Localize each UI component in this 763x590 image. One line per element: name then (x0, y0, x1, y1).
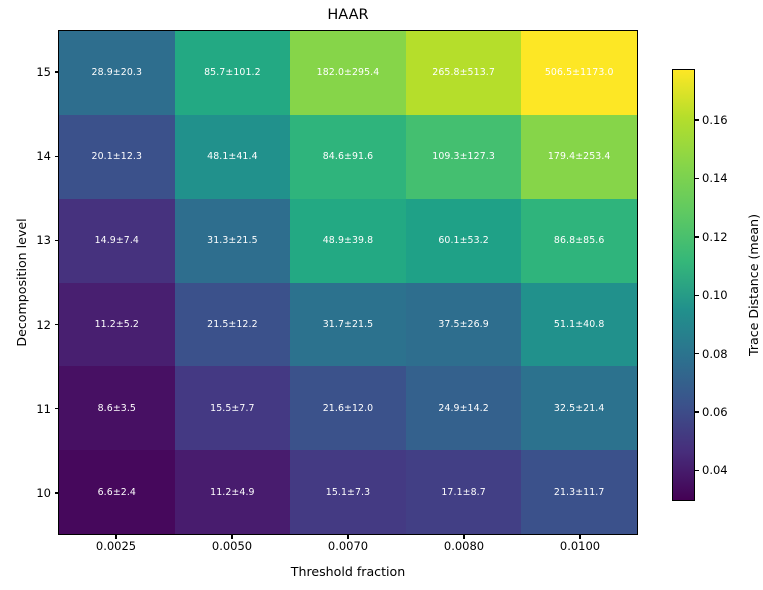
heatmap-cell: 506.5±1173.0 (521, 31, 637, 115)
heatmap-cell-label: 506.5±1173.0 (545, 67, 614, 78)
y-tick-label: 14 (0, 149, 56, 163)
heatmap-cell: 20.1±12.3 (59, 115, 175, 199)
heatmap-cell: 86.8±85.6 (521, 199, 637, 283)
heatmap-cell-label: 179.4±253.4 (548, 151, 611, 162)
heatmap-cell: 109.3±127.3 (406, 115, 522, 199)
x-tick-label: 0.0100 (560, 539, 600, 553)
colorbar-label: Trace Distance (mean) (746, 69, 762, 501)
heatmap-cell-label: 11.2±4.9 (210, 487, 254, 498)
heatmap-cell-label: 31.3±21.5 (207, 235, 258, 246)
colorbar-tick-label: 0.14 (702, 171, 728, 185)
heatmap-cell-label: 37.5±26.9 (438, 319, 489, 330)
colorbar-tick-label: 0.08 (702, 347, 728, 361)
colorbar-tick-mark (695, 119, 699, 120)
page-title: HAAR (58, 6, 638, 24)
heatmap-cell-label: 48.9±39.8 (323, 235, 374, 246)
heatmap-cell: 15.5±7.7 (175, 366, 291, 450)
x-tick-label: 0.0050 (212, 539, 252, 553)
heatmap-cell-label: 21.6±12.0 (323, 403, 374, 414)
heatmap-cell: 48.9±39.8 (290, 199, 406, 283)
colorbar-tick-label: 0.10 (702, 288, 728, 302)
y-tick-label: 15 (0, 65, 56, 79)
heatmap-cell: 31.7±21.5 (290, 283, 406, 367)
x-axis-label: Threshold fraction (58, 564, 638, 579)
heatmap-cell-label: 51.1±40.8 (554, 319, 605, 330)
y-axis-label: Decomposition level (14, 30, 30, 535)
colorbar-tick-mark (695, 470, 699, 471)
y-tick-label: 12 (0, 318, 56, 332)
x-tick-mark (347, 535, 348, 539)
heatmap-cell-label: 86.8±85.6 (554, 235, 605, 246)
heatmap-cell: 14.9±7.4 (59, 199, 175, 283)
heatmap-cell: 28.9±20.3 (59, 31, 175, 115)
heatmap-cell-label: 11.2±5.2 (95, 319, 139, 330)
heatmap-cell-label: 21.5±12.2 (207, 319, 258, 330)
heatmap-cell: 21.6±12.0 (290, 366, 406, 450)
heatmap-cell-label: 32.5±21.4 (554, 403, 605, 414)
heatmap-cell-label: 17.1±8.7 (441, 487, 485, 498)
heatmap-cell: 15.1±7.3 (290, 450, 406, 534)
y-tick-label: 11 (0, 402, 56, 416)
heatmap-cell-label: 15.5±7.7 (210, 403, 254, 414)
x-tick-mark (115, 535, 116, 539)
heatmap-cell-label: 182.0±295.4 (317, 67, 380, 78)
heatmap-cell-label: 24.9±14.2 (438, 403, 489, 414)
x-tick-label: 0.0070 (328, 539, 368, 553)
heatmap-cell: 17.1±8.7 (406, 450, 522, 534)
heatmap-cell-label: 265.8±513.7 (432, 67, 495, 78)
colorbar-tick-label: 0.12 (702, 230, 728, 244)
heatmap-cell: 11.2±4.9 (175, 450, 291, 534)
heatmap-cell-label: 31.7±21.5 (323, 319, 374, 330)
heatmap-cell-label: 15.1±7.3 (326, 487, 370, 498)
y-tick-label: 10 (0, 486, 56, 500)
heatmap-cell-label: 6.6±2.4 (98, 487, 136, 498)
heatmap-cell: 32.5±21.4 (521, 366, 637, 450)
heatmap-cell: 31.3±21.5 (175, 199, 291, 283)
colorbar-tick-label: 0.06 (702, 405, 728, 419)
heatmap-cell-label: 21.3±11.7 (554, 487, 605, 498)
heatmap-cell-label: 60.1±53.2 (438, 235, 489, 246)
heatmap-cell-label: 48.1±41.4 (207, 151, 258, 162)
figure-canvas: HAAR 28.9±20.385.7±101.2182.0±295.4265.8… (0, 0, 763, 590)
heatmap-cell-label: 84.6±91.6 (323, 151, 374, 162)
heatmap-cell: 37.5±26.9 (406, 283, 522, 367)
colorbar-tick-mark (695, 353, 699, 354)
heatmap-grid: 28.9±20.385.7±101.2182.0±295.4265.8±513.… (59, 31, 637, 534)
colorbar-tick-mark (695, 178, 699, 179)
colorbar-tick-mark (695, 411, 699, 412)
heatmap-cell: 48.1±41.4 (175, 115, 291, 199)
x-tick-mark (579, 535, 580, 539)
heatmap-cell-label: 8.6±3.5 (98, 403, 136, 414)
heatmap-cell: 182.0±295.4 (290, 31, 406, 115)
heatmap-cell: 265.8±513.7 (406, 31, 522, 115)
heatmap-cell: 51.1±40.8 (521, 283, 637, 367)
colorbar (672, 69, 695, 501)
x-tick-mark (231, 535, 232, 539)
colorbar-tick-mark (695, 295, 699, 296)
heatmap-cell-label: 14.9±7.4 (95, 235, 139, 246)
heatmap-cell: 84.6±91.6 (290, 115, 406, 199)
heatmap-cell: 60.1±53.2 (406, 199, 522, 283)
colorbar-tick-mark (695, 236, 699, 237)
heatmap-cell: 85.7±101.2 (175, 31, 291, 115)
colorbar-tick-label: 0.16 (702, 113, 728, 127)
heatmap-cell: 11.2±5.2 (59, 283, 175, 367)
colorbar-tick-label: 0.04 (702, 463, 728, 477)
heatmap-cell: 6.6±2.4 (59, 450, 175, 534)
x-tick-label: 0.0080 (444, 539, 484, 553)
heatmap-cell: 8.6±3.5 (59, 366, 175, 450)
y-tick-label: 13 (0, 233, 56, 247)
heatmap-cell-label: 28.9±20.3 (92, 67, 143, 78)
colorbar-gradient (672, 69, 695, 501)
x-tick-mark (463, 535, 464, 539)
heatmap-cell-label: 85.7±101.2 (204, 67, 261, 78)
heatmap-cell-label: 109.3±127.3 (432, 151, 495, 162)
heatmap-cell: 179.4±253.4 (521, 115, 637, 199)
heatmap-cell: 21.3±11.7 (521, 450, 637, 534)
x-tick-label: 0.0025 (96, 539, 136, 553)
heatmap-plot-area: 28.9±20.385.7±101.2182.0±295.4265.8±513.… (58, 30, 638, 535)
heatmap-cell-label: 20.1±12.3 (92, 151, 143, 162)
heatmap-cell: 21.5±12.2 (175, 283, 291, 367)
heatmap-cell: 24.9±14.2 (406, 366, 522, 450)
